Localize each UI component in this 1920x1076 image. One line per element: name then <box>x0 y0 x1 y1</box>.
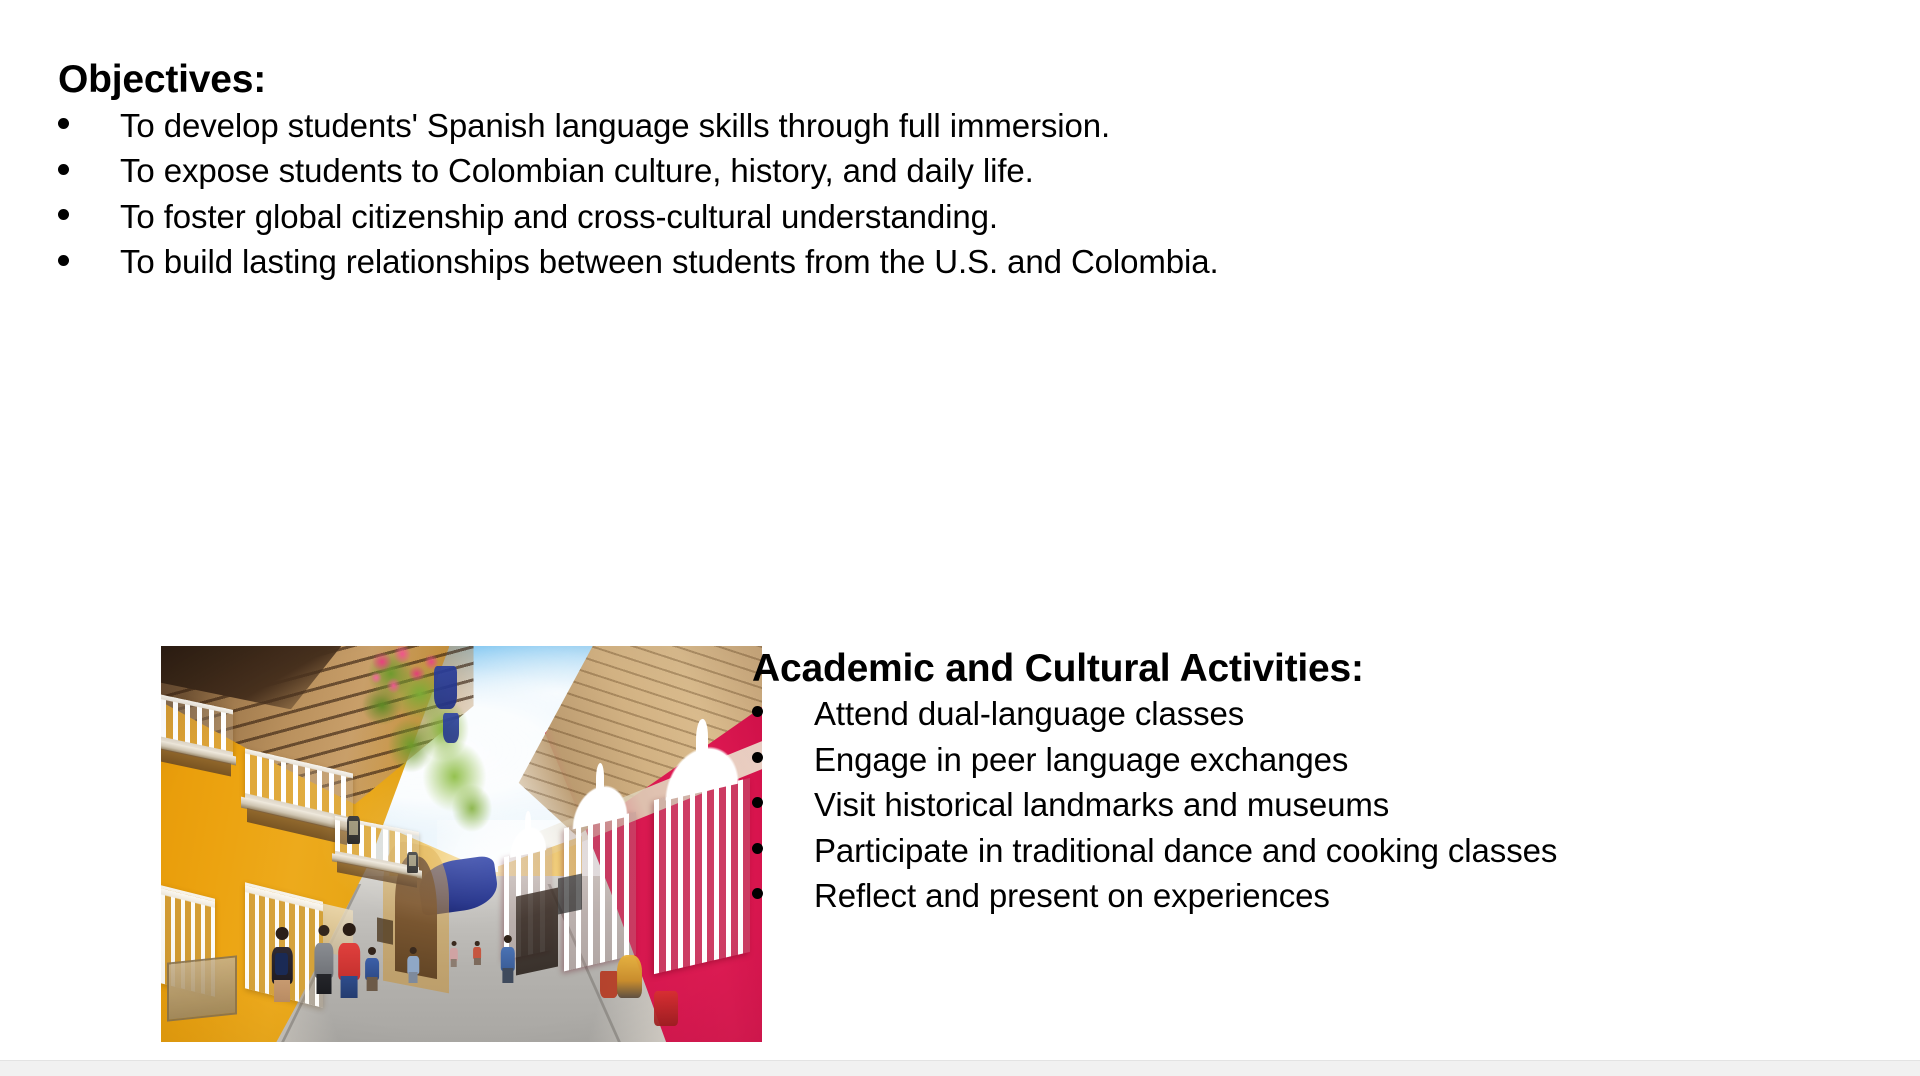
pedestrian-head <box>318 925 329 936</box>
activities-text-block: Academic and Cultural Activities: Attend… <box>752 647 1872 919</box>
list-item-text: Attend dual-language classes <box>814 695 1244 732</box>
pedestrian-legs <box>450 959 457 967</box>
pedestrian-body <box>338 943 360 981</box>
bullet-dot-icon <box>752 706 763 717</box>
bullet-dot-icon <box>752 888 763 899</box>
cartagena-street-photo <box>161 646 762 1042</box>
backpack <box>275 953 288 976</box>
pedestrian-head <box>276 927 289 940</box>
list-item: Visit historical landmarks and museums <box>752 782 1872 828</box>
bullet-dot-icon <box>752 797 763 808</box>
list-item-text: To expose students to Colombian culture,… <box>120 152 1034 189</box>
pedestrian-head <box>410 947 417 954</box>
list-item-text: Participate in traditional dance and coo… <box>814 832 1557 869</box>
objectives-section: Objectives: To develop students' Spanish… <box>58 58 1858 285</box>
list-item-text: Engage in peer language exchanges <box>814 741 1348 778</box>
leaning-board <box>167 955 237 1022</box>
slide-canvas: Objectives: To develop students' Spanish… <box>0 0 1920 1060</box>
pedestrian-head <box>475 941 480 946</box>
pedestrian-head <box>504 935 512 943</box>
list-item: To foster global citizenship and cross-c… <box>58 194 1858 240</box>
bullet-dot-icon <box>58 255 69 266</box>
pedestrian-legs <box>409 972 418 983</box>
street-lamp-icon <box>407 852 417 873</box>
list-item: Attend dual-language classes <box>752 691 1872 737</box>
list-item-text: To foster global citizenship and cross-c… <box>120 198 998 235</box>
pedestrian-child <box>365 947 379 991</box>
list-item: Engage in peer language exchanges <box>752 737 1872 783</box>
bullet-dot-icon <box>58 118 69 129</box>
activities-heading: Academic and Cultural Activities: <box>752 647 1872 691</box>
list-item-text: Visit historical landmarks and museums <box>814 786 1389 823</box>
pedestrian-legs <box>274 980 290 1003</box>
pedestrian-head <box>343 923 356 936</box>
red-street-object <box>654 991 678 1027</box>
shop-sign <box>558 873 582 914</box>
list-item-text: To build lasting relationships between s… <box>120 243 1219 280</box>
pedestrian <box>272 927 292 1002</box>
pedestrian <box>338 923 360 998</box>
pedestrian-head <box>368 947 376 955</box>
page-bottom-band <box>0 1060 1920 1076</box>
pedestrian-body <box>314 943 333 978</box>
bullet-dot-icon <box>752 843 763 854</box>
seated-vendor <box>617 955 642 999</box>
objectives-heading: Objectives: <box>58 58 1858 103</box>
pedestrian-legs <box>316 974 331 995</box>
pedestrian-distant <box>449 941 457 967</box>
bullet-dot-icon <box>752 752 763 763</box>
activities-bullet-list: Attend dual-language classes Engage in p… <box>752 691 1872 919</box>
bullet-dot-icon <box>58 164 69 175</box>
bullet-dot-icon <box>58 209 69 220</box>
wall-sign <box>377 918 393 945</box>
list-item: To build lasting relationships between s… <box>58 239 1858 285</box>
pedestrian <box>501 935 515 983</box>
list-item: Participate in traditional dance and coo… <box>752 828 1872 874</box>
pedestrian-legs <box>474 958 480 965</box>
pedestrian-head <box>451 941 456 946</box>
objectives-bullet-list: To develop students' Spanish language sk… <box>58 103 1858 285</box>
pedestrian-legs <box>341 976 358 999</box>
list-item: Reflect and present on experiences <box>752 873 1872 919</box>
photo-canvas <box>161 646 762 1042</box>
list-item-text: To develop students' Spanish language sk… <box>120 107 1110 144</box>
list-item-text: Reflect and present on experiences <box>814 877 1330 914</box>
list-item: To develop students' Spanish language sk… <box>58 103 1858 149</box>
pedestrian <box>407 947 418 983</box>
window-grille-cage <box>654 777 750 973</box>
pedestrian-legs <box>367 977 378 990</box>
potted-plant <box>600 971 618 999</box>
pedestrian <box>314 925 333 994</box>
bougainvillea-planting <box>353 646 497 844</box>
shop-entrance <box>516 887 558 975</box>
pink-blossoms <box>353 646 497 844</box>
pedestrian-legs <box>502 968 513 982</box>
pedestrian-distant <box>474 941 482 965</box>
list-item: To expose students to Colombian culture,… <box>58 148 1858 194</box>
